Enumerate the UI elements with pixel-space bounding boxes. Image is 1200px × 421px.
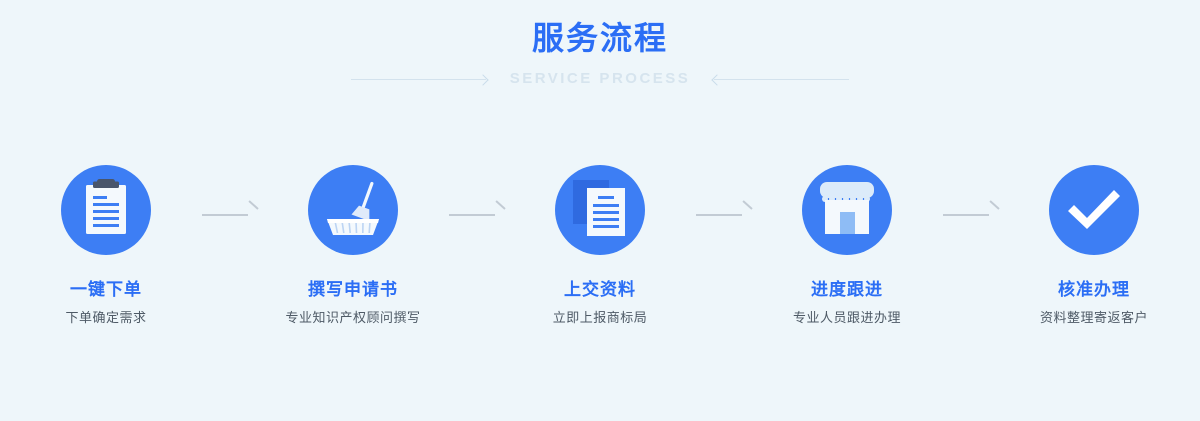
page-subtitle: SERVICE PROCESS <box>486 68 715 90</box>
arrow-shaft <box>449 214 495 216</box>
arrow-head <box>248 200 258 210</box>
step-3-icon-circle <box>555 165 645 255</box>
arrow-right-icon <box>202 202 258 218</box>
step-2-title: 撰写申请书 <box>308 279 398 301</box>
connector-arrow-2 <box>441 165 513 255</box>
step-3-title: 上交资料 <box>564 279 636 301</box>
documents-icon <box>571 178 629 243</box>
connector-arrow-4 <box>935 165 1007 255</box>
process-step-2: 撰写申请书 专业知识产权顾问撰写 <box>266 165 441 328</box>
arrow-shaft <box>696 214 742 216</box>
step-5-title: 核准办理 <box>1058 279 1130 301</box>
arrow-head <box>742 200 752 210</box>
service-process-banner: 服务流程 SERVICE PROCESS <box>0 0 1200 421</box>
step-2-icon-circle <box>308 165 398 255</box>
decorative-arrow-right-icon <box>712 74 723 85</box>
process-step-1: 一键下单 下单确定需求 <box>19 165 194 328</box>
subtitle-row: SERVICE PROCESS <box>0 68 1200 90</box>
arrow-shaft <box>943 214 989 216</box>
decorative-line-right-bar <box>714 79 849 80</box>
step-5-icon-circle <box>1049 165 1139 255</box>
step-5-desc: 资料整理寄返客户 <box>1040 310 1148 328</box>
decorative-line-left-bar <box>351 79 486 80</box>
arrow-head <box>989 200 999 210</box>
step-1-desc: 下单确定需求 <box>65 310 146 328</box>
storefront-icon <box>816 180 878 241</box>
arrow-right-icon <box>696 202 752 218</box>
step-2-desc: 专业知识产权顾问撰写 <box>285 310 420 328</box>
clipboard-icon <box>80 179 132 242</box>
step-1-icon-circle <box>61 165 151 255</box>
checkmark-icon <box>1065 185 1123 236</box>
connector-arrow-1 <box>194 165 266 255</box>
step-3-desc: 立即上报商标局 <box>553 310 648 328</box>
page-title: 服务流程 <box>0 18 1200 58</box>
process-step-4: 进度跟进 专业人员跟进办理 <box>760 165 935 328</box>
decorative-line-right <box>714 73 849 85</box>
process-step-5: 核准办理 资料整理寄返客户 <box>1007 165 1182 328</box>
step-4-desc: 专业人员跟进办理 <box>793 310 901 328</box>
arrow-right-icon <box>449 202 505 218</box>
connector-arrow-3 <box>688 165 760 255</box>
step-4-icon-circle <box>802 165 892 255</box>
process-steps: 一键下单 下单确定需求 <box>0 165 1200 328</box>
arrow-shaft <box>202 214 248 216</box>
step-1-title: 一键下单 <box>70 279 142 301</box>
broom-icon <box>321 177 385 244</box>
decorative-line-left <box>351 73 486 85</box>
arrow-right-icon <box>943 202 999 218</box>
section-header: 服务流程 SERVICE PROCESS <box>0 18 1200 90</box>
step-4-title: 进度跟进 <box>811 279 883 301</box>
process-step-3: 上交资料 立即上报商标局 <box>513 165 688 328</box>
arrow-head <box>495 200 505 210</box>
